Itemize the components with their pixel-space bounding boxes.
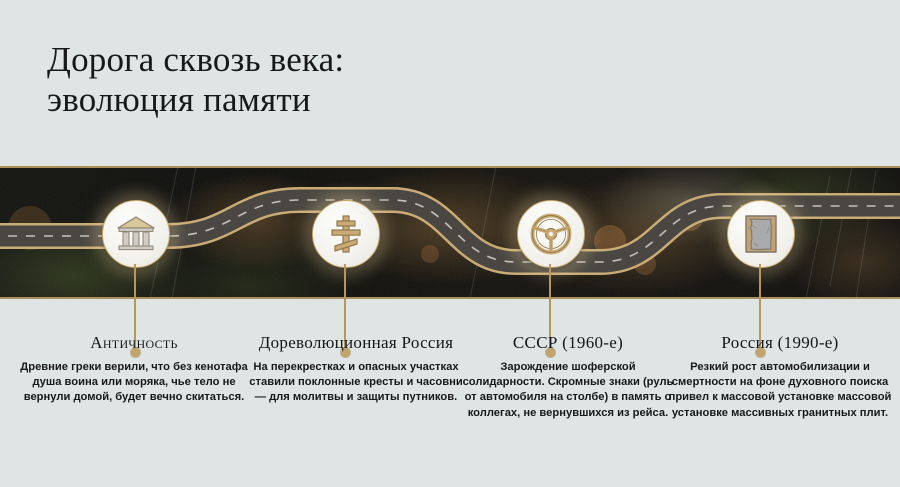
timeline-marker-antiquity[interactable]: [102, 200, 168, 266]
greek-temple-icon: [116, 215, 156, 253]
caption-body: На перекрестках и опасных участках стави…: [246, 360, 466, 406]
caption-heading: Античность: [18, 332, 250, 353]
steering-wheel-icon: [530, 213, 572, 255]
caption-ussr: СССР (1960-е) Зарождение шоферской солид…: [462, 332, 674, 421]
timeline-marker-russia[interactable]: [727, 200, 793, 266]
caption-heading: Россия (1990-е): [664, 332, 896, 353]
marker-circle: [102, 200, 170, 268]
caption-body: Резкий рост автомобилизации и смертности…: [664, 360, 896, 421]
marker-circle: [727, 200, 795, 268]
caption-heading: Дореволюционная Россия: [246, 332, 466, 353]
caption-body: Древние греки верили, что без кенотафа д…: [18, 360, 250, 406]
caption-body: Зарождение шоферской солидарности. Скром…: [462, 360, 674, 421]
caption-antiquity: Античность Древние греки верили, что без…: [18, 332, 250, 406]
caption-prerevolution: Дореволюционная Россия На перекрестках и…: [246, 332, 466, 406]
page-title: Дорога сквозь века: эволюция памяти: [47, 40, 667, 120]
title-line-2: эволюция памяти: [47, 80, 667, 120]
orthodox-cross-icon: [329, 213, 363, 255]
granite-slab-icon: [743, 213, 779, 255]
marker-circle: [312, 200, 380, 268]
timeline-marker-prerevolution[interactable]: [312, 200, 378, 266]
band-top-rule: [0, 166, 900, 168]
infographic-root: Дорога сквозь века: эволюция памяти: [0, 0, 900, 487]
timeline-marker-ussr[interactable]: [517, 200, 583, 266]
marker-circle: [517, 200, 585, 268]
title-line-1: Дорога сквозь века:: [47, 40, 667, 80]
caption-russia: Россия (1990-е) Резкий рост автомобилиза…: [664, 332, 896, 421]
caption-heading: СССР (1960-е): [462, 332, 674, 353]
